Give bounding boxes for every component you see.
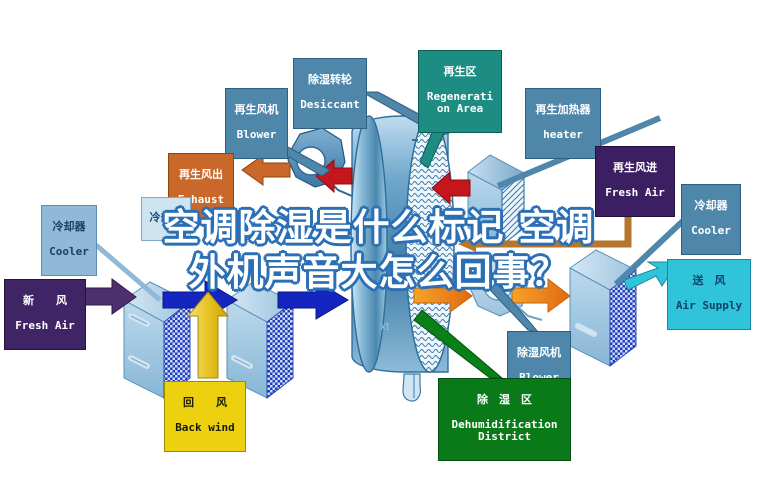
label-cooler-left-cn: 冷却器 [44,221,94,233]
label-fresh-air-left-en: Fresh Air [8,320,82,332]
label-regeneration-area-cn: 再生区 [421,66,499,78]
label-regen-blower[interactable]: 再生风机 Blower [225,88,288,159]
label-dehumid-district[interactable]: 除 湿 区 Dehumidification District [438,378,571,461]
label-dehumid-district-cn: 除 湿 区 [442,394,567,406]
label-dehumid-blower-cn: 除湿风机 [510,347,568,359]
label-desiccant-wheel-en: Desiccant [296,99,364,111]
svg-text:xt: xt [380,319,390,333]
label-regen-exhaust-cn: 再生风出 [171,169,231,181]
dehumidifier-schematic-svg: xt [0,0,757,488]
label-regen-blower-cn: 再生风机 [228,104,285,116]
label-back-wind[interactable]: 回 风 Back wind [164,381,246,452]
label-regen-heater-cn: 再生加热器 [528,104,598,116]
label-cooler-left[interactable]: 冷却器 Cooler [41,205,97,276]
label-cooler-left-behind-cn: 冷却器 [144,212,188,224]
label-cooler-left-behind[interactable]: 冷却器 [141,197,191,241]
label-back-wind-cn: 回 风 [168,397,242,409]
label-desiccant-wheel-cn: 除湿转轮 [296,74,364,86]
label-air-supply[interactable]: 送 风 Air Supply [667,259,751,330]
label-cooler-left-en: Cooler [44,246,94,258]
label-regen-heater[interactable]: 再生加热器 heater [525,88,601,159]
label-regeneration-area-en: Regenerati on Area [421,91,499,116]
desiccant-wheel [351,116,454,401]
arrow-regen-exhaust [242,155,290,185]
label-regen-heater-en: heater [528,129,598,141]
label-dehumid-district-en: Dehumidification District [442,419,567,444]
label-regen-fresh-air[interactable]: 再生风进 Fresh Air [595,146,675,217]
label-air-supply-en: Air Supply [671,300,747,312]
label-regeneration-area[interactable]: 再生区 Regenerati on Area [418,50,502,133]
label-regen-blower-en: Blower [228,129,285,141]
label-cooler-right-cn: 冷却器 [684,200,738,212]
label-air-supply-cn: 送 风 [671,275,747,287]
label-regen-fresh-air-cn: 再生风进 [598,162,672,174]
label-fresh-air-left[interactable]: 新 风 Fresh Air [4,279,86,350]
regeneration-heater-unit [468,155,524,245]
label-cooler-right[interactable]: 冷却器 Cooler [681,184,741,255]
label-desiccant-wheel[interactable]: 除湿转轮 Desiccant [293,58,367,129]
schematic-canvas: xt 除湿转轮 Desiccant 再生风机 Blower 再生风出 Exhau… [0,0,757,488]
label-regen-fresh-air-en: Fresh Air [598,187,672,199]
label-fresh-air-left-cn: 新 风 [8,295,82,307]
label-cooler-right-en: Cooler [684,225,738,237]
cooler-unit-right [570,250,636,366]
label-back-wind-en: Back wind [168,422,242,434]
